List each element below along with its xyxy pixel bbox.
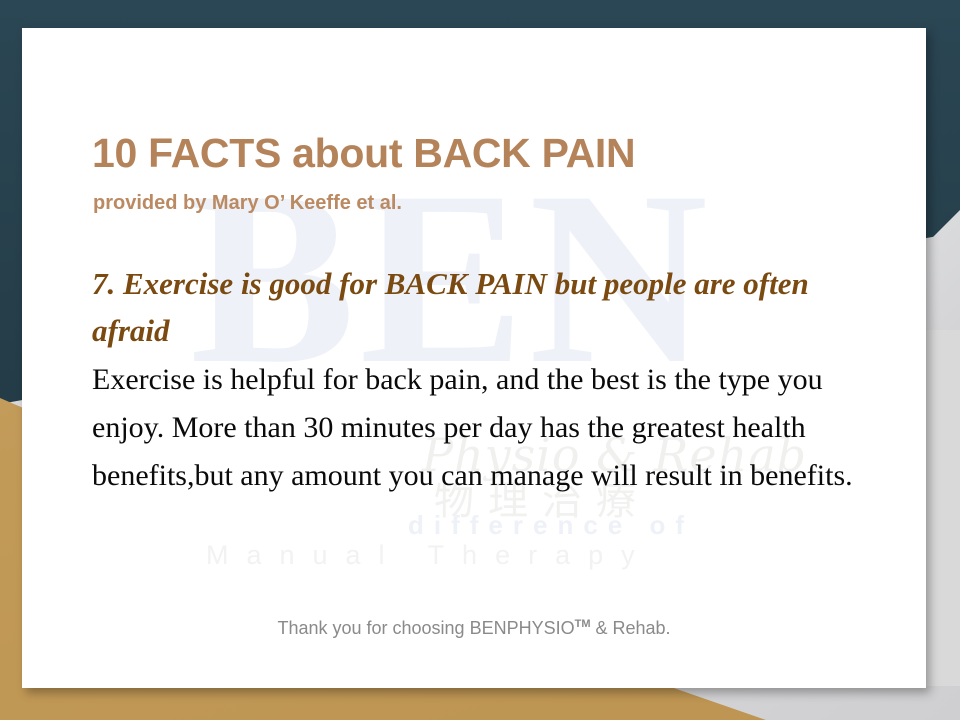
slide-subtitle: provided by Mary O’ Keeffe et al. — [93, 192, 402, 215]
footer-prefix-text: Thank you for choosing BENPHYSIO — [277, 618, 574, 638]
footer-trademark-symbol: TM — [575, 618, 591, 630]
slide-content: 10 FACTS about BACK PAIN provided by Mar… — [22, 28, 926, 688]
slide-title: 10 FACTS about BACK PAIN — [92, 130, 635, 177]
slide-footer: Thank you for choosing BENPHYSIOTM & Reh… — [22, 618, 926, 639]
slide-content-card: BEN Physio & Rehab 物理治療 difference of Ma… — [22, 28, 926, 688]
fact-body-text: Exercise is helpful for back pain, and t… — [92, 356, 862, 500]
footer-suffix-text: & Rehab. — [590, 618, 670, 638]
fact-heading: 7. Exercise is good for BACK PAIN but pe… — [92, 260, 862, 354]
presentation-slide: BEN Physio & Rehab 物理治療 difference of Ma… — [0, 0, 960, 720]
fact-block: 7. Exercise is good for BACK PAIN but pe… — [92, 260, 862, 500]
